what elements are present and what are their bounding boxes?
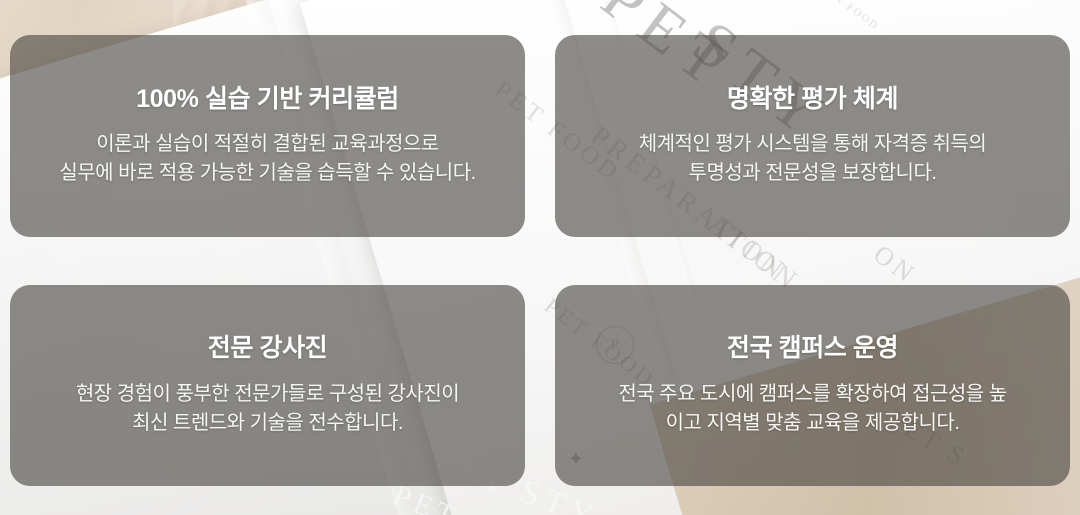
feature-card-grid: 100% 실습 기반 커리큘럼 이론과 실습이 적절히 결합된 교육과정으로 실… — [10, 35, 1070, 486]
feature-card-clear-evaluation[interactable]: 명확한 평가 체계 체계적인 평가 시스템을 통해 자격증 취득의 투명성과 전… — [555, 35, 1070, 237]
card-title: 전국 캠퍼스 운영 — [727, 333, 898, 364]
feature-card-expert-instructors[interactable]: 전문 강사진 현장 경험이 풍부한 전문가들로 구성된 강사진이 최신 트렌드와… — [10, 285, 525, 486]
card-title: 명확한 평가 체계 — [727, 84, 898, 115]
feature-card-practice-curriculum[interactable]: 100% 실습 기반 커리큘럼 이론과 실습이 적절히 결합된 교육과정으로 실… — [10, 35, 525, 237]
card-description: 현장 경험이 풍부한 전문가들로 구성된 강사진이 최신 트렌드와 기술을 전수… — [76, 380, 459, 438]
feature-card-nationwide-campus[interactable]: 전국 캠퍼스 운영 전국 주요 도시에 캠퍼스를 확장하여 접근성을 높 이고 … — [555, 285, 1070, 486]
card-description: 전국 주요 도시에 캠퍼스를 확장하여 접근성을 높 이고 지역별 맞춤 교육을… — [618, 380, 1006, 438]
card-title: 전문 강사진 — [208, 333, 328, 364]
card-description: 체계적인 평가 시스템을 통해 자격증 취득의 투명성과 전문성을 보장합니다. — [639, 130, 986, 188]
feature-section: PET STY PET FOOD PREPARATION ATION PET S… — [0, 0, 1080, 515]
card-title: 100% 실습 기반 커리큘럼 — [136, 84, 399, 115]
card-description: 이론과 실습이 적절히 결합된 교육과정으로 실무에 바로 적용 가능한 기술을… — [59, 130, 475, 188]
